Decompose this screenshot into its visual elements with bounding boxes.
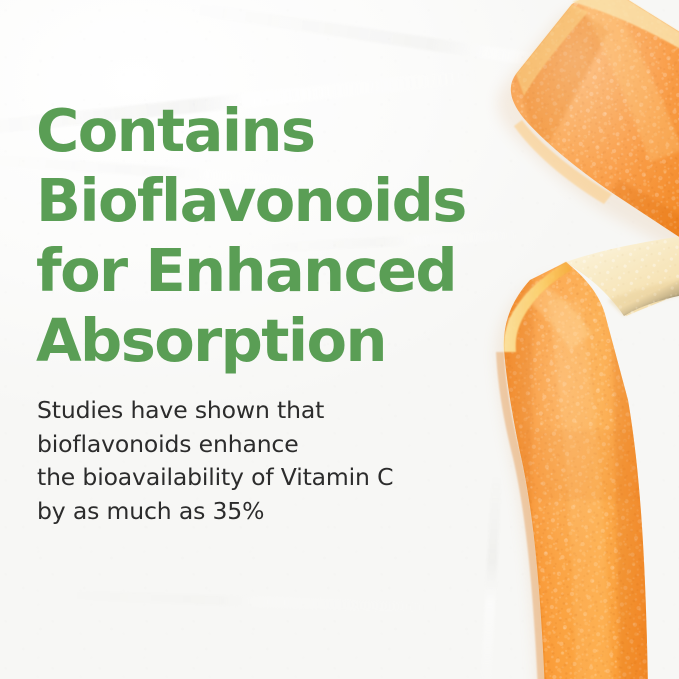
headline: Contains Bioflavonoids for Enhanced Abso… bbox=[36, 96, 506, 376]
body-line-4: by as much as 35% bbox=[37, 495, 467, 529]
headline-line-3: for Enhanced bbox=[36, 236, 506, 306]
headline-line-1: Contains bbox=[36, 96, 506, 166]
body-line-1: Studies have shown that bbox=[37, 394, 467, 428]
headline-line-4: Absorption bbox=[36, 306, 506, 376]
headline-line-2: Bioflavonoids bbox=[36, 166, 506, 236]
body-line-2: bioflavonoids enhance bbox=[37, 428, 467, 462]
body-copy: Studies have shown that bioflavonoids en… bbox=[37, 394, 467, 528]
product-claim-poster: Contains Bioflavonoids for Enhanced Abso… bbox=[0, 0, 679, 679]
body-line-3: the bioavailability of Vitamin C bbox=[37, 461, 467, 495]
